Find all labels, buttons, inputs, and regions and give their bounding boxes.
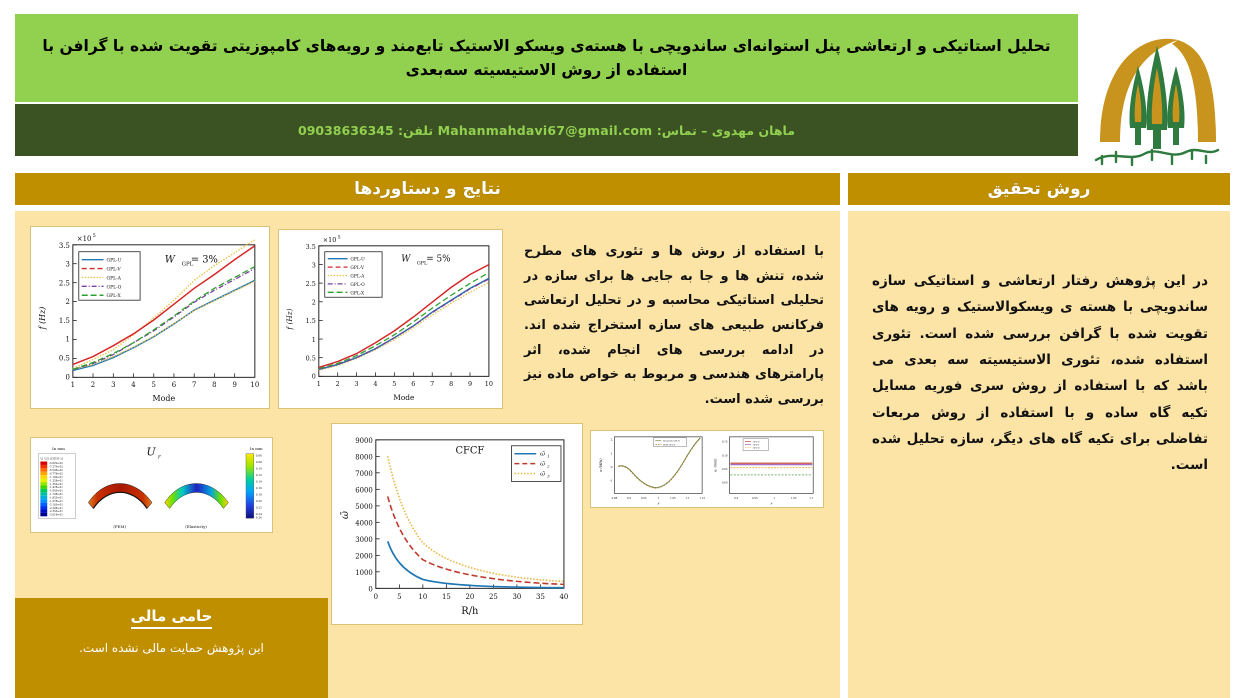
svg-text:0.26: 0.26 — [256, 515, 262, 519]
svg-text:0.5: 0.5 — [306, 354, 316, 362]
svg-text:0.10: 0.10 — [256, 467, 262, 471]
svg-text:GPL-V: GPL-V — [753, 445, 760, 447]
chart-contour-ur: U r In mm U, U3 (CSYS-1) — [31, 438, 272, 532]
svg-text:10: 10 — [485, 380, 493, 388]
chart-gpl3-annotation: W — [165, 255, 176, 266]
svg-text:4000: 4000 — [355, 519, 373, 527]
svg-text:1.05: 1.05 — [670, 497, 676, 500]
svg-text:10: 10 — [250, 381, 259, 389]
svg-text:0.88: 0.88 — [612, 497, 618, 500]
contour-colorbar — [246, 454, 254, 519]
contour-fem-label: (FEM) — [113, 524, 126, 529]
svg-text:5: 5 — [397, 593, 401, 601]
svg-text:0.15: 0.15 — [722, 441, 728, 444]
svg-text:FEM GPL-U: FEM GPL-U — [663, 445, 676, 447]
figure-gpl-5-percent: ×10 5 3.53 2.52 1.51 0.50 123 456 — [278, 229, 503, 409]
svg-text:5: 5 — [392, 380, 396, 388]
chart-gpl5-xlabel: Mode — [393, 393, 415, 402]
svg-text:0: 0 — [65, 373, 69, 381]
svg-text:GPL-X: GPL-X — [106, 293, 121, 299]
svg-text:0.95: 0.95 — [752, 497, 758, 500]
svg-text:7: 7 — [192, 381, 196, 389]
svg-text:0.06: 0.06 — [256, 454, 262, 458]
svg-text:GPL-A: GPL-A — [106, 275, 121, 281]
section-heading-method: روش تحقیق — [848, 173, 1230, 205]
svg-text:ω̄: ω̄ — [540, 461, 545, 468]
section-heading-method-label: روش تحقیق — [988, 179, 1091, 199]
svg-text:9: 9 — [468, 380, 472, 388]
svg-text:8: 8 — [449, 380, 453, 388]
figure-stress-displacement: 21 0-1 0.880.9 0.951 1.051.1 1.12 r̄ σ (… — [590, 430, 824, 508]
svg-text:2.5: 2.5 — [59, 279, 70, 287]
svg-text:6000: 6000 — [355, 486, 373, 494]
author-contact-band: ماهان مهدوی – تماس: Mahanmahdavi67@gmail… — [15, 104, 1078, 156]
svg-text:GPL-V: GPL-V — [350, 266, 364, 271]
svg-text:7000: 7000 — [355, 470, 373, 478]
header-divider — [0, 170, 1243, 172]
svg-text:25: 25 — [489, 593, 498, 601]
chart-stress-left-ylabel: σ (MPa) — [599, 458, 603, 472]
svg-text:3.5: 3.5 — [306, 243, 316, 251]
svg-text:30: 30 — [512, 593, 521, 601]
svg-text:ω̄: ω̄ — [540, 470, 545, 477]
svg-text:0: 0 — [611, 465, 613, 469]
chart-gpl5-annotation: W — [401, 255, 411, 265]
svg-text:GPL-U: GPL-U — [106, 258, 121, 264]
sponsor-body: این پژوهش حمایت مالی نشده است. — [79, 641, 264, 655]
contour-left-colorbar-title: In mm — [52, 446, 65, 451]
svg-text:5: 5 — [338, 234, 341, 240]
svg-text:0.14: 0.14 — [256, 479, 262, 483]
svg-text:0.10: 0.10 — [722, 454, 728, 457]
svg-text:GPL-X: GPL-X — [350, 291, 365, 296]
svg-text:3: 3 — [65, 261, 69, 269]
svg-text:0.00: 0.00 — [722, 482, 728, 485]
svg-text:3.5: 3.5 — [59, 242, 70, 250]
contour-right-colorbar-title: In mm — [250, 446, 263, 451]
chart-gpl3-xlabel: Mode — [153, 394, 176, 403]
svg-text:6: 6 — [172, 381, 176, 389]
svg-text:1.5: 1.5 — [306, 317, 316, 325]
svg-text:GPL-U: GPL-U — [753, 442, 760, 444]
svg-text:0.22: 0.22 — [256, 505, 262, 509]
svg-text:GPL-V: GPL-V — [106, 267, 121, 273]
chart-gpl-3-percent: ×10 5 3.53 2.52 1.51 0.50 123 — [31, 227, 269, 408]
chart-cfcf-ylabel: ω̄ — [340, 511, 351, 519]
svg-text:1: 1 — [312, 336, 316, 344]
svg-text:3: 3 — [111, 381, 115, 389]
university-logo — [1082, 10, 1232, 170]
figure-gpl-3-percent: ×10 5 3.53 2.52 1.51 0.50 123 — [30, 226, 270, 409]
svg-text:1.1: 1.1 — [809, 497, 813, 500]
svg-text:1.12: 1.12 — [699, 497, 705, 500]
figure-cfcf: 90008000 70006000 50004000 30002000 1000… — [331, 423, 583, 625]
svg-text:= 5%: = 5% — [426, 255, 450, 265]
svg-text:3: 3 — [312, 261, 316, 269]
contour-legend-header: U, U3 (CSYS-1) — [40, 457, 63, 461]
chart-gpl3-ylabel: f (Hz) — [38, 307, 47, 331]
svg-text:3: 3 — [355, 380, 359, 388]
svg-text:20: 20 — [465, 593, 474, 601]
svg-text:0.05: 0.05 — [722, 468, 728, 471]
svg-text:2.5: 2.5 — [306, 280, 316, 288]
section-heading-results: نتایج و دستاوردها — [15, 173, 840, 205]
svg-text:7: 7 — [430, 380, 434, 388]
svg-text:0.95: 0.95 — [641, 497, 647, 500]
poster-canvas: تحلیل استاتیکی و ارتعاشی پنل استوانه‌ای … — [0, 0, 1243, 698]
svg-text:1: 1 — [611, 451, 613, 455]
svg-text:1.5: 1.5 — [59, 317, 70, 325]
author-contact: ماهان مهدوی – تماس: Mahanmahdavi67@gmail… — [298, 123, 795, 138]
svg-text:0: 0 — [374, 593, 378, 601]
chart-gpl-5-percent: ×10 5 3.53 2.52 1.51 0.50 123 456 — [279, 230, 502, 408]
svg-text:8: 8 — [212, 381, 216, 389]
svg-text:1.05: 1.05 — [791, 497, 797, 500]
poster-title-band: تحلیل استاتیکی و ارتعاشی پنل استوانه‌ای … — [15, 14, 1078, 102]
svg-text:35: 35 — [536, 593, 545, 601]
sponsor-heading: حامی مالی — [131, 607, 213, 629]
svg-text:0: 0 — [368, 585, 372, 593]
svg-text:15: 15 — [442, 593, 451, 601]
svg-text:-1: -1 — [610, 479, 613, 483]
page-title: تحلیل استاتیکی و ارتعاشی پنل استوانه‌ای … — [29, 34, 1064, 82]
tarbiat-modares-logo-icon — [1082, 10, 1232, 170]
svg-text:×10: ×10 — [77, 235, 92, 243]
svg-text:0: 0 — [312, 372, 316, 380]
svg-text:4: 4 — [373, 380, 377, 388]
sponsor-box: حامی مالی این پژوهش حمایت مالی نشده است. — [15, 598, 328, 698]
svg-text:0.5: 0.5 — [59, 355, 70, 363]
contour-title: U — [146, 446, 156, 459]
contour-elasticity-label: (Elasticity) — [185, 524, 207, 529]
svg-text:0.9: 0.9 — [734, 497, 738, 500]
svg-text:GPL-U: GPL-U — [350, 258, 365, 263]
svg-text:1000: 1000 — [355, 569, 373, 577]
svg-text:40: 40 — [560, 593, 569, 601]
svg-text:-2.618e-01: -2.618e-01 — [49, 514, 63, 517]
svg-text:0.20: 0.20 — [256, 499, 262, 503]
svg-text:×10: ×10 — [323, 236, 337, 244]
section-heading-results-label: نتایج و دستاوردها — [354, 179, 501, 199]
svg-text:2: 2 — [65, 298, 69, 306]
svg-text:10: 10 — [418, 593, 427, 601]
svg-text:0.16: 0.16 — [256, 486, 262, 490]
chart-gpl5-ylabel: f (Hz) — [285, 308, 294, 330]
svg-text:4: 4 — [131, 381, 136, 389]
svg-text:= 3%: = 3% — [191, 255, 218, 266]
svg-text:9: 9 — [232, 381, 236, 389]
svg-text:0.9: 0.9 — [627, 497, 631, 500]
method-body-text: در این پژوهش رفتار ارتعاشی و استاتیکی سا… — [872, 268, 1208, 479]
svg-text:1: 1 — [65, 336, 69, 344]
svg-text:1: 1 — [317, 380, 321, 388]
chart-displacement-right-ylabel: uᵣ (mm) — [714, 458, 718, 472]
svg-text:GPL-O: GPL-O — [106, 284, 121, 290]
svg-text:6: 6 — [411, 380, 415, 388]
svg-text:8000: 8000 — [355, 453, 373, 461]
svg-text:5: 5 — [93, 233, 96, 239]
svg-text:ω̄: ω̄ — [540, 451, 545, 458]
svg-text:9000: 9000 — [355, 437, 373, 445]
svg-text:0.18: 0.18 — [256, 492, 262, 496]
svg-text:5000: 5000 — [355, 503, 373, 511]
svg-text:5: 5 — [152, 381, 156, 389]
svg-text:1.1: 1.1 — [686, 497, 690, 500]
svg-text:0.12: 0.12 — [256, 473, 262, 477]
svg-text:3000: 3000 — [355, 536, 373, 544]
svg-text:1: 1 — [71, 381, 75, 389]
svg-text:2: 2 — [91, 381, 95, 389]
chart-cfcf: 90008000 70006000 50004000 30002000 1000… — [332, 424, 582, 624]
chart-cfcf-xlabel: R/h — [461, 606, 479, 617]
svg-text:1: 1 — [547, 454, 550, 459]
chart-cfcf-title: CFCF — [455, 446, 484, 457]
results-body-text: با استفاده از روش ها و تئوری های مطرح شد… — [524, 240, 824, 413]
svg-text:Elasticity GPL-U: Elasticity GPL-U — [663, 440, 680, 443]
svg-text:2: 2 — [546, 464, 550, 469]
svg-text:2: 2 — [336, 380, 340, 388]
svg-text:GPL-A: GPL-A — [350, 274, 365, 279]
svg-text:0.08: 0.08 — [256, 460, 262, 464]
chart-stress-displacement-pair: 21 0-1 0.880.9 0.951 1.051.1 1.12 r̄ σ (… — [591, 431, 823, 507]
svg-text:GPL-O: GPL-O — [350, 283, 365, 288]
svg-text:GPL-O: GPL-O — [753, 448, 760, 450]
svg-text:2: 2 — [312, 299, 316, 307]
svg-text:2: 2 — [611, 438, 613, 442]
svg-text:2000: 2000 — [355, 552, 373, 560]
contour-legend-swatches — [40, 462, 47, 517]
figure-contour-ur: U r In mm U, U3 (CSYS-1) — [30, 437, 273, 533]
